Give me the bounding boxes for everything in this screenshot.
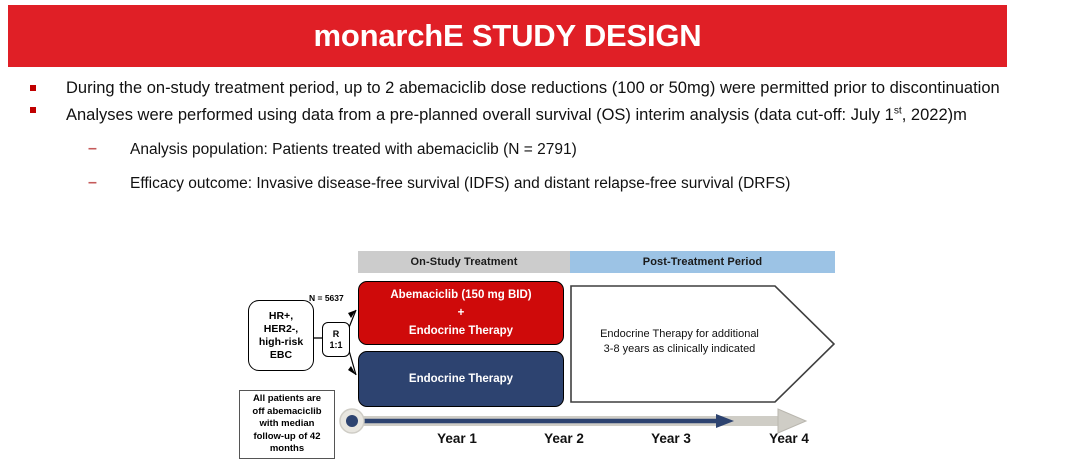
randomization-n-label: N = 5637 <box>309 293 344 303</box>
arm-experimental-line1: Abemaciclib (150 mg BID) <box>390 286 531 304</box>
followup-note-box: All patients areoff abemaciclibwith medi… <box>239 390 335 459</box>
study-design-diagram: On-Study Treatment Post-Treatment Period… <box>0 0 1075 462</box>
post-treatment-chevron-label: Endocrine Therapy for additional 3-8 yea… <box>582 327 777 357</box>
arm-experimental-plus: + <box>458 304 465 322</box>
population-box: HR+,HER2-,high-riskEBC <box>248 300 314 371</box>
treatment-arm-experimental: Abemaciclib (150 mg BID) + Endocrine The… <box>358 281 564 345</box>
arm-control-label: Endocrine Therapy <box>409 373 513 385</box>
timeline-label-year-1: Year 1 <box>437 431 477 446</box>
post-treatment-line1: Endocrine Therapy for additional <box>600 328 759 340</box>
followup-note-text: All patients areoff abemaciclibwith medi… <box>252 393 321 456</box>
arm-experimental-line3: Endocrine Therapy <box>409 322 513 340</box>
post-treatment-line2: 3-8 years as clinically indicated <box>604 343 756 355</box>
randomization-box: R1:1 <box>322 322 350 357</box>
randomization-ratio-label: R1:1 <box>329 329 342 351</box>
timeline-label-year-2: Year 2 <box>544 431 584 446</box>
timeline-label-year-3: Year 3 <box>651 431 691 446</box>
timeline-label-year-4: Year 4 <box>769 431 809 446</box>
treatment-arm-control: Endocrine Therapy <box>358 351 564 407</box>
population-box-label: HR+,HER2-,high-riskEBC <box>259 310 303 362</box>
